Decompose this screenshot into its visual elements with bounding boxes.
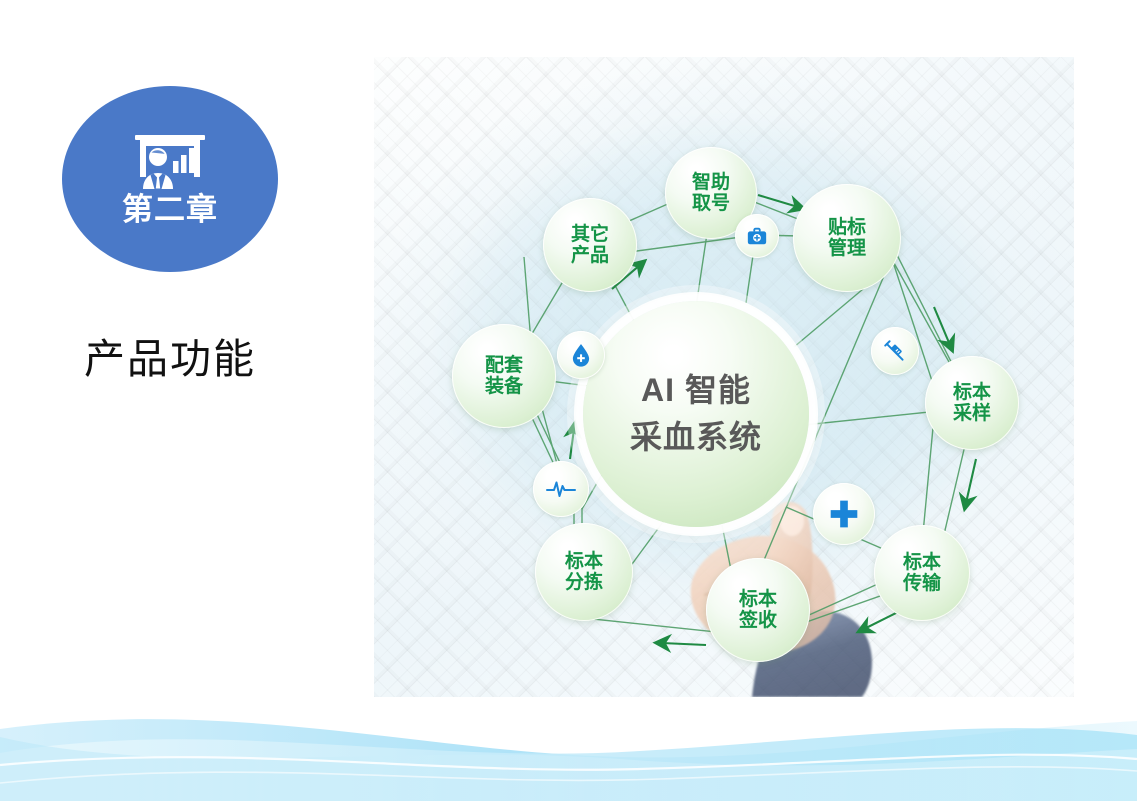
node-biaoben-chuanshu[interactable]: 标本 传输 xyxy=(874,525,970,621)
hub-line-1: AI 智能 xyxy=(641,367,751,414)
medical-kit-icon xyxy=(746,225,768,247)
icon-node-syringe[interactable] xyxy=(871,327,919,375)
node-label-line2: 取号 xyxy=(692,193,730,214)
node-label-line2: 装备 xyxy=(485,376,523,397)
node-label-line1: 标本 xyxy=(739,589,777,610)
node-label-line2: 产品 xyxy=(571,245,609,266)
node-biaoben-caiyang[interactable]: 标本 采样 xyxy=(925,356,1019,450)
chapter-label: 第二章 xyxy=(122,194,218,225)
chapter-badge: 第二章 xyxy=(62,86,278,272)
node-peitao-zhuangbei[interactable]: 配套 装备 xyxy=(452,324,556,428)
medical-cross-icon xyxy=(827,497,861,531)
page-title: 产品功能 xyxy=(0,325,340,385)
node-label-line1: 贴标 xyxy=(828,217,866,238)
icon-node-droplet[interactable] xyxy=(557,331,605,379)
node-label-line2: 分拣 xyxy=(565,572,603,593)
node-label-line1: 标本 xyxy=(565,551,603,572)
node-biaoben-qianshou[interactable]: 标本 签收 xyxy=(706,558,810,662)
bottom-wave-decoration xyxy=(0,691,1137,801)
icon-node-ecg[interactable] xyxy=(533,461,589,517)
icon-node-cross[interactable] xyxy=(813,483,875,545)
node-label-line1: 标本 xyxy=(953,382,991,403)
node-label-line2: 管理 xyxy=(828,238,866,259)
diagram-hub[interactable]: AI 智能 采血系统 xyxy=(583,301,809,527)
node-label-line2: 传输 xyxy=(903,573,941,594)
node-label-line1: 配套 xyxy=(485,355,523,376)
presentation-chart-icon xyxy=(133,133,207,189)
icon-node-medical-kit[interactable] xyxy=(735,214,779,258)
node-tiebiao-guanli[interactable]: 贴标 管理 xyxy=(793,184,901,292)
hub-line-2: 采血系统 xyxy=(630,414,762,461)
node-label-line1: 标本 xyxy=(903,552,941,573)
node-label-line2: 采样 xyxy=(953,403,991,424)
node-label-line1: 智助 xyxy=(692,172,730,193)
syringe-icon xyxy=(882,338,908,364)
node-label-line2: 签收 xyxy=(739,610,777,631)
node-label-line1: 其它 xyxy=(571,224,609,245)
node-biaoben-fenjian[interactable]: 标本 分拣 xyxy=(535,523,633,621)
node-qita-chanpin[interactable]: 其它 产品 xyxy=(543,198,637,292)
blood-drop-icon xyxy=(568,342,594,368)
product-function-diagram: AI 智能 采血系统 智助 取号 贴标 管理 标本 采样 标本 传输 标本 签收 xyxy=(374,57,1074,697)
heartbeat-icon xyxy=(545,473,577,505)
chapter-block: 第二章 产品功能 xyxy=(0,0,340,430)
